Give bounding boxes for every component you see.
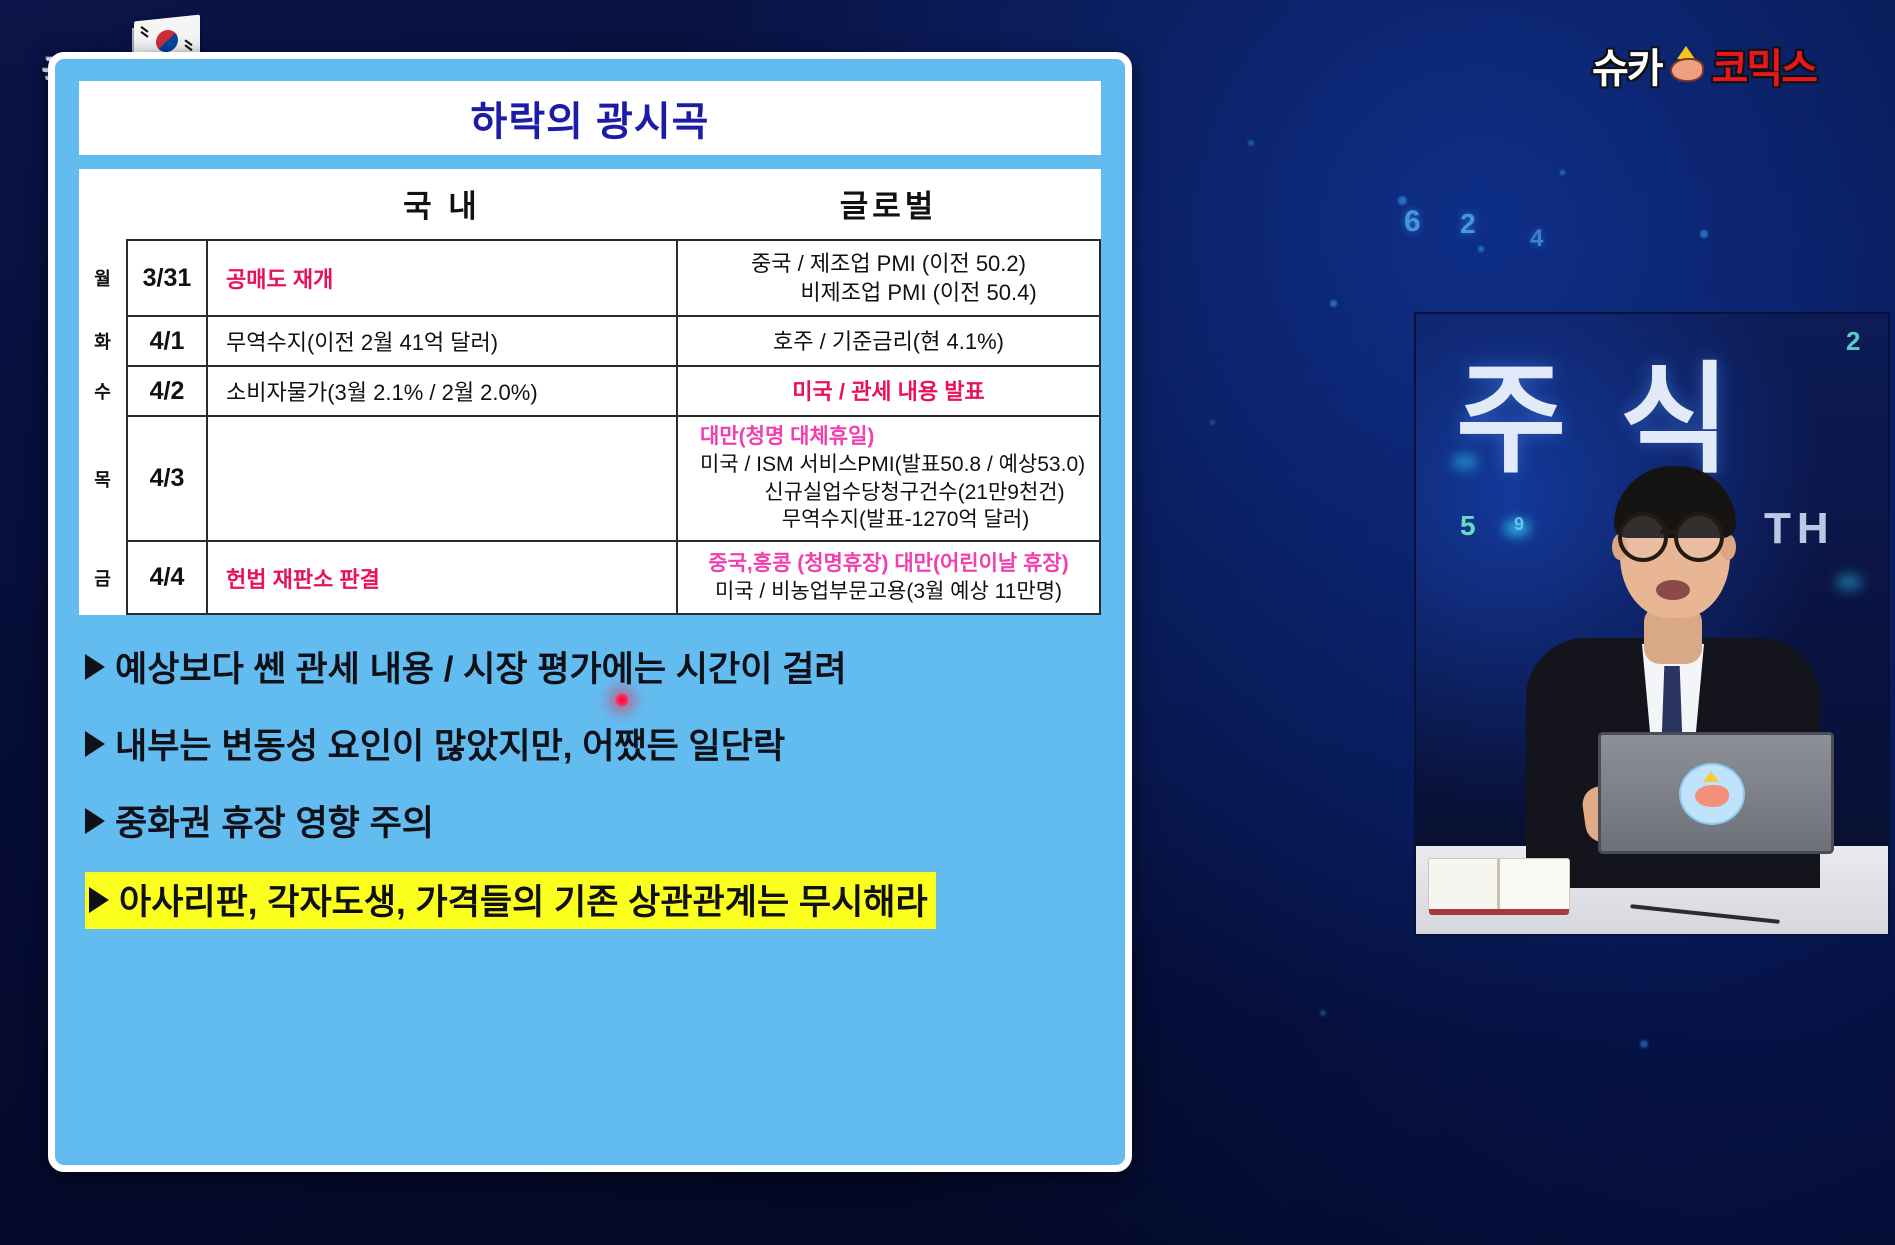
table-row: 월 3/31 공매도 재개 중국 / 제조업 PMI (이전 50.2) 비제조… — [79, 240, 1100, 316]
mouth — [1656, 580, 1690, 600]
row-day: 목 — [79, 416, 127, 541]
logo-word-two: 코믹스 — [1712, 36, 1816, 94]
global-line: 대만(청명 대체휴일) — [688, 423, 1089, 451]
list-item-highlighted-wrapper: 아사리판, 각자도생, 가격들의 기존 상관관계는 무시해라 — [85, 872, 1095, 929]
schedule-table-wrapper: 국 내 글로벌 월 3/31 공매도 재개 중국 / 제조업 PMI (이전 5… — [79, 169, 1101, 615]
domestic-line: 무역수지(이전 2월 41억 달러) — [226, 325, 666, 357]
glasses-bridge — [1660, 530, 1676, 534]
presenter-video-panel[interactable]: 주 식 TH 5 9 2 — [1414, 312, 1890, 936]
laptop-sticker — [1679, 763, 1745, 825]
triangle-bullet-icon — [85, 808, 105, 834]
crowned-fish-icon — [1666, 44, 1708, 86]
triangle-bullet-icon — [89, 887, 109, 913]
list-item: 아사리판, 각자도생, 가격들의 기존 상관관계는 무시해라 — [85, 872, 936, 929]
triangle-bullet-icon — [85, 731, 105, 757]
presentation-slide: 하락의 광시곡 국 내 글로벌 월 3/31 공매도 재개 — [48, 52, 1132, 1172]
bullet-text: 아사리판, 각자도생, 가격들의 기존 상관관계는 무시해라 — [119, 874, 928, 925]
row-global: 중국,홍콩 (청명휴장) 대만(어린이날 휴장) 미국 / 비농업부문고용(3월… — [677, 541, 1100, 614]
domestic-line: 소비자물가(3월 2.1% / 2월 2.0%) — [226, 375, 666, 407]
bullet-text: 예상보다 쎈 관세 내용 / 시장 평가에는 시간이 걸려 — [115, 641, 847, 692]
row-global: 대만(청명 대체휴일) 미국 / ISM 서비스PMI(발표50.8 / 예상5… — [677, 416, 1100, 541]
list-item: 중화권 휴장 영향 주의 — [85, 795, 1095, 846]
schedule-table: 국 내 글로벌 월 3/31 공매도 재개 중국 / 제조업 PMI (이전 5… — [79, 169, 1101, 615]
table-header-row: 국 내 글로벌 — [79, 169, 1100, 240]
row-date: 3/31 — [127, 240, 207, 316]
global-line: 중국 / 제조업 PMI (이전 50.2) — [688, 249, 1089, 278]
bg-number-two: 2 — [1460, 208, 1476, 240]
slide-title: 하락의 광시곡 — [471, 89, 710, 147]
domestic-line: 공매도 재개 — [226, 262, 666, 294]
slide-title-bar: 하락의 광시곡 — [79, 81, 1101, 155]
backdrop-number-two: 2 — [1846, 326, 1860, 357]
row-day: 월 — [79, 240, 127, 316]
row-domestic: 소비자물가(3월 2.1% / 2월 2.0%) — [207, 366, 677, 416]
header-domestic: 국 내 — [207, 169, 677, 240]
global-line: 중국,홍콩 (청명휴장) 대만(어린이날 휴장) — [688, 550, 1089, 578]
row-domestic: 공매도 재개 — [207, 240, 677, 316]
backdrop-number-nine: 9 — [1514, 514, 1524, 535]
backdrop-number-five: 5 — [1460, 510, 1476, 542]
table-row: 목 4/3 대만(청명 대체휴일) 미국 / ISM 서비스PMI(발표50.8… — [79, 416, 1100, 541]
row-date: 4/4 — [127, 541, 207, 614]
list-item: 내부는 변동성 요인이 많았지만, 어쨌든 일단락 — [85, 718, 1095, 769]
bullet-text: 중화권 휴장 영향 주의 — [115, 795, 434, 846]
row-domestic: 헌법 재판소 판결 — [207, 541, 677, 614]
list-item: 예상보다 쎈 관세 내용 / 시장 평가에는 시간이 걸려 — [85, 641, 1095, 692]
header-spacer-date — [127, 169, 207, 240]
global-line: 호주 / 기준금리(현 4.1%) — [688, 327, 1089, 356]
global-line: 무역수지(발표-1270억 달러) — [688, 506, 1089, 534]
global-line: 신규실업수당청구건수(21만9천건) — [688, 479, 1089, 507]
bg-number-four: 4 — [1530, 225, 1543, 253]
bg-number-six: 6 — [1404, 205, 1421, 239]
triangle-bullet-icon — [85, 654, 105, 680]
logo-word-one: 슈카 — [1592, 36, 1662, 94]
header-spacer-day — [79, 169, 127, 240]
row-global: 중국 / 제조업 PMI (이전 50.2) 비제조업 PMI (이전 50.4… — [677, 240, 1100, 316]
row-date: 4/1 — [127, 316, 207, 366]
table-row: 화 4/1 무역수지(이전 2월 41억 달러) 호주 / 기준금리(현 4.1… — [79, 316, 1100, 366]
row-global: 호주 / 기준금리(현 4.1%) — [677, 316, 1100, 366]
table-row: 금 4/4 헌법 재판소 판결 중국,홍콩 (청명휴장) 대만(어린이날 휴장)… — [79, 541, 1100, 614]
open-notebook — [1428, 858, 1570, 912]
glasses-icon — [1674, 512, 1724, 562]
header-global: 글로벌 — [677, 169, 1100, 240]
bullet-text: 내부는 변동성 요인이 많았지만, 어쨌든 일단락 — [115, 718, 785, 769]
row-date: 4/3 — [127, 416, 207, 541]
row-date: 4/2 — [127, 366, 207, 416]
global-line: 비제조업 PMI (이전 50.4) — [688, 278, 1089, 307]
global-line: 미국 / 비농업부문고용(3월 예상 11만명) — [688, 578, 1089, 606]
crown-icon — [1703, 771, 1719, 782]
row-day: 화 — [79, 316, 127, 366]
row-global: 미국 / 관세 내용 발표 — [677, 366, 1100, 416]
global-line: 미국 / 관세 내용 발표 — [688, 377, 1089, 406]
row-day: 금 — [79, 541, 127, 614]
table-row: 수 4/2 소비자물가(3월 2.1% / 2월 2.0%) 미국 / 관세 내… — [79, 366, 1100, 416]
takeaway-list: 예상보다 쎈 관세 내용 / 시장 평가에는 시간이 걸려 내부는 변동성 요인… — [85, 641, 1095, 929]
global-line: 미국 / ISM 서비스PMI(발표50.8 / 예상53.0) — [688, 451, 1089, 479]
glasses-icon — [1618, 512, 1668, 562]
show-logo: 슈카 코믹스 — [1592, 34, 1816, 96]
row-domestic: 무역수지(이전 2월 41억 달러) — [207, 316, 677, 366]
laptop — [1598, 732, 1834, 854]
row-day: 수 — [79, 366, 127, 416]
laser-pointer-dot — [614, 692, 630, 708]
domestic-line: 헌법 재판소 판결 — [226, 562, 666, 594]
fish-icon — [1695, 785, 1729, 807]
row-domestic — [207, 416, 677, 541]
